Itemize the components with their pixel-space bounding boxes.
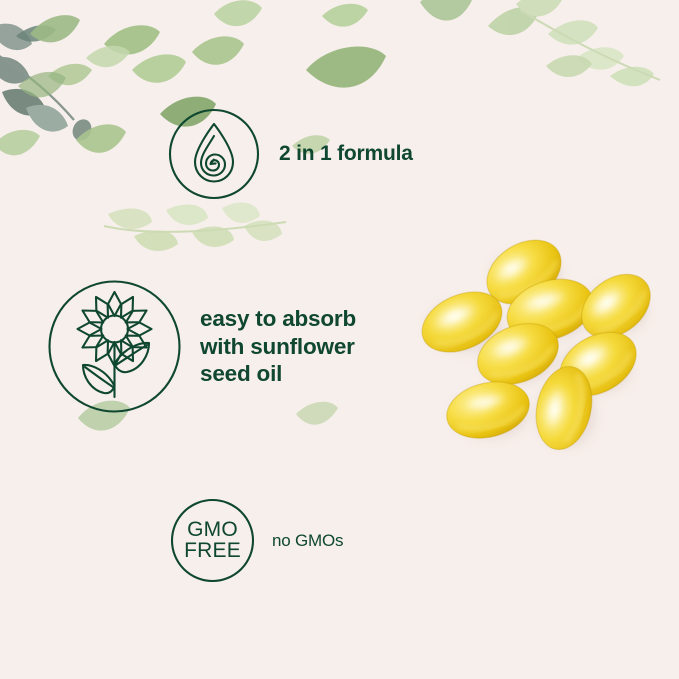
- softgel-capsules-image: [418, 218, 668, 468]
- leaf-single-right: [420, 0, 472, 21]
- sunflower-icon: [47, 279, 182, 414]
- water-droplet-swirl-icon: [168, 108, 260, 200]
- easy-absorb-badge: [47, 279, 182, 414]
- feature-two-in-one: 2 in 1 formula: [168, 108, 413, 200]
- leaf-sprig-slate: [0, 24, 95, 144]
- feature-label-easy-absorb: easy to absorb with sunflower seed oil: [200, 305, 356, 387]
- feature-label-no-gmo: no GMOs: [272, 531, 343, 551]
- feature-label-two-in-one: 2 in 1 formula: [279, 142, 413, 166]
- gmo-free-badge: GMO FREE: [170, 498, 255, 583]
- feature-easy-absorb: easy to absorb with sunflower seed oil: [47, 279, 356, 414]
- feature-no-gmo: GMO FREE no GMOs: [170, 498, 343, 583]
- capsule: [441, 374, 536, 447]
- gmo-free-seal-text: GMO FREE: [170, 498, 255, 583]
- gmo-seal-line-2: FREE: [184, 541, 241, 562]
- eucalyptus-sprig-top: [488, 0, 660, 86]
- eucalyptus-sprig-pale: [104, 202, 286, 251]
- infographic-canvas: 2 in 1 formula: [0, 0, 679, 679]
- gmo-seal-line-1: GMO: [187, 520, 238, 541]
- two-in-one-badge: [168, 108, 260, 200]
